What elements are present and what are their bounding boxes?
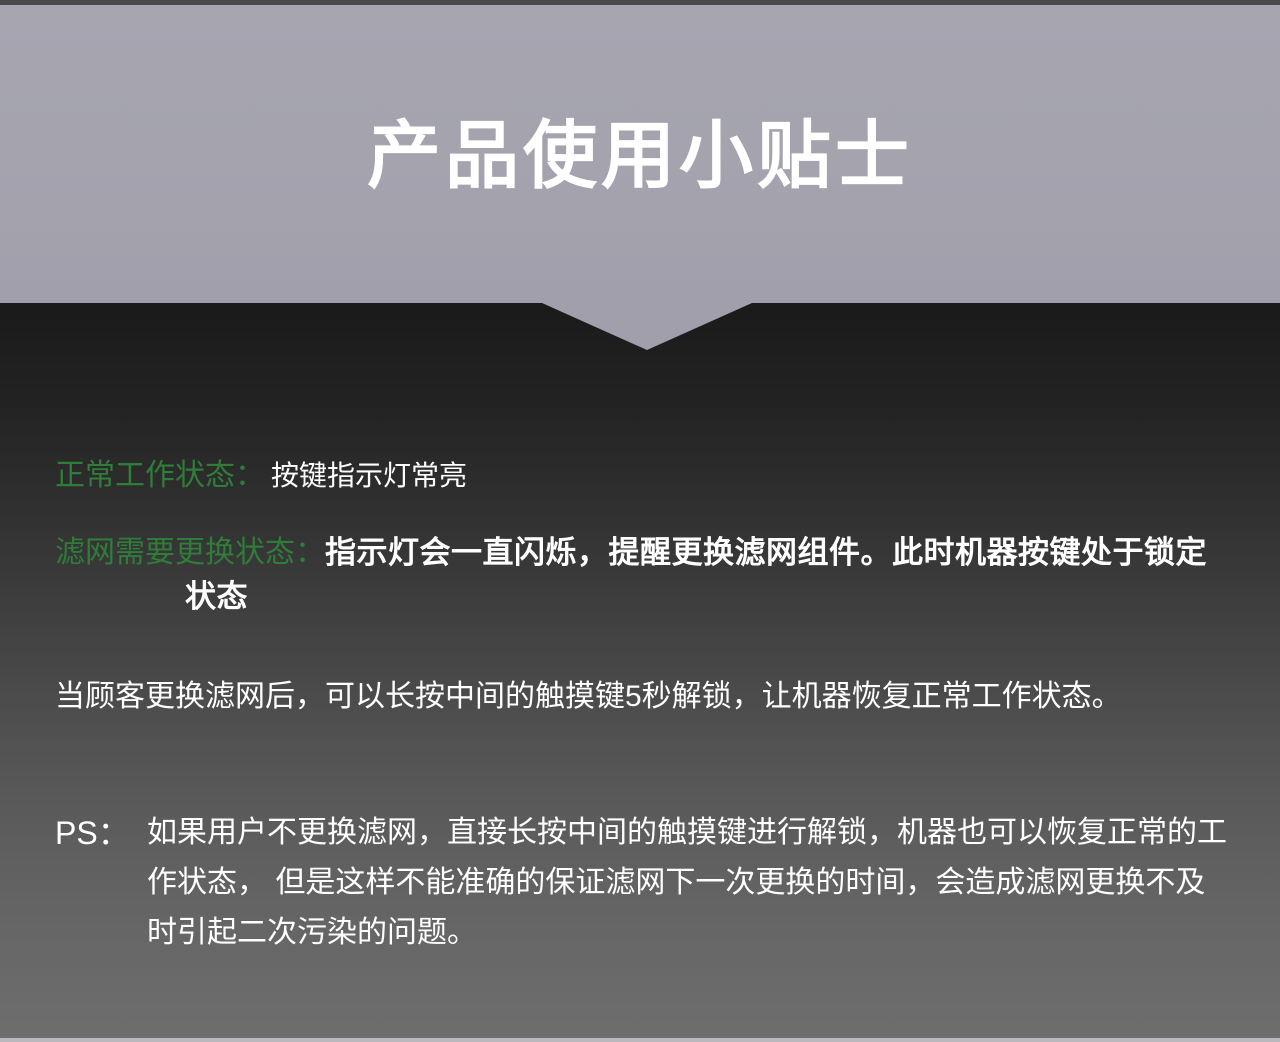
status-value-normal: 按键指示灯常亮 — [265, 460, 467, 491]
bottom-edge-strip — [0, 1038, 1280, 1042]
ps-body-text: 如果用户不更换滤网，直接长按中间的触摸键进行解锁，机器也可以恢复正常的工作状态，… — [147, 808, 1235, 958]
product-tips-page: 产品使用小贴士 正常工作状态：按键指示灯常亮 滤网需要更换状态： 指示灯会一直闪… — [0, 0, 1280, 1042]
status-value-filter-replace: 指示灯会一直闪烁，提醒更换滤网组件。此时机器按键处于锁定状态 — [185, 531, 1235, 619]
header-band: 产品使用小贴士 — [0, 5, 1280, 303]
status-label-filter-replace: 滤网需要更换状态： — [55, 531, 325, 575]
ps-label: PS： — [55, 808, 130, 858]
status-row-filter-replace: 滤网需要更换状态： 指示灯会一直闪烁，提醒更换滤网组件。此时机器按键处于锁定状态 — [55, 531, 1235, 619]
unlock-instruction-paragraph: 当顾客更换滤网后，可以长按中间的触摸键5秒解锁，让机器恢复正常工作状态。 — [55, 673, 1227, 720]
status-row-normal: 正常工作状态：按键指示灯常亮 — [55, 461, 1230, 491]
content-area: 正常工作状态：按键指示灯常亮 滤网需要更换状态： 指示灯会一直闪烁，提醒更换滤网… — [0, 303, 1280, 1042]
status-label-normal: 正常工作状态： — [55, 459, 265, 492]
ps-note: PS： 如果用户不更换滤网，直接长按中间的触摸键进行解锁，机器也可以恢复正常的工… — [55, 808, 1235, 958]
page-title: 产品使用小贴士 — [0, 117, 1280, 195]
